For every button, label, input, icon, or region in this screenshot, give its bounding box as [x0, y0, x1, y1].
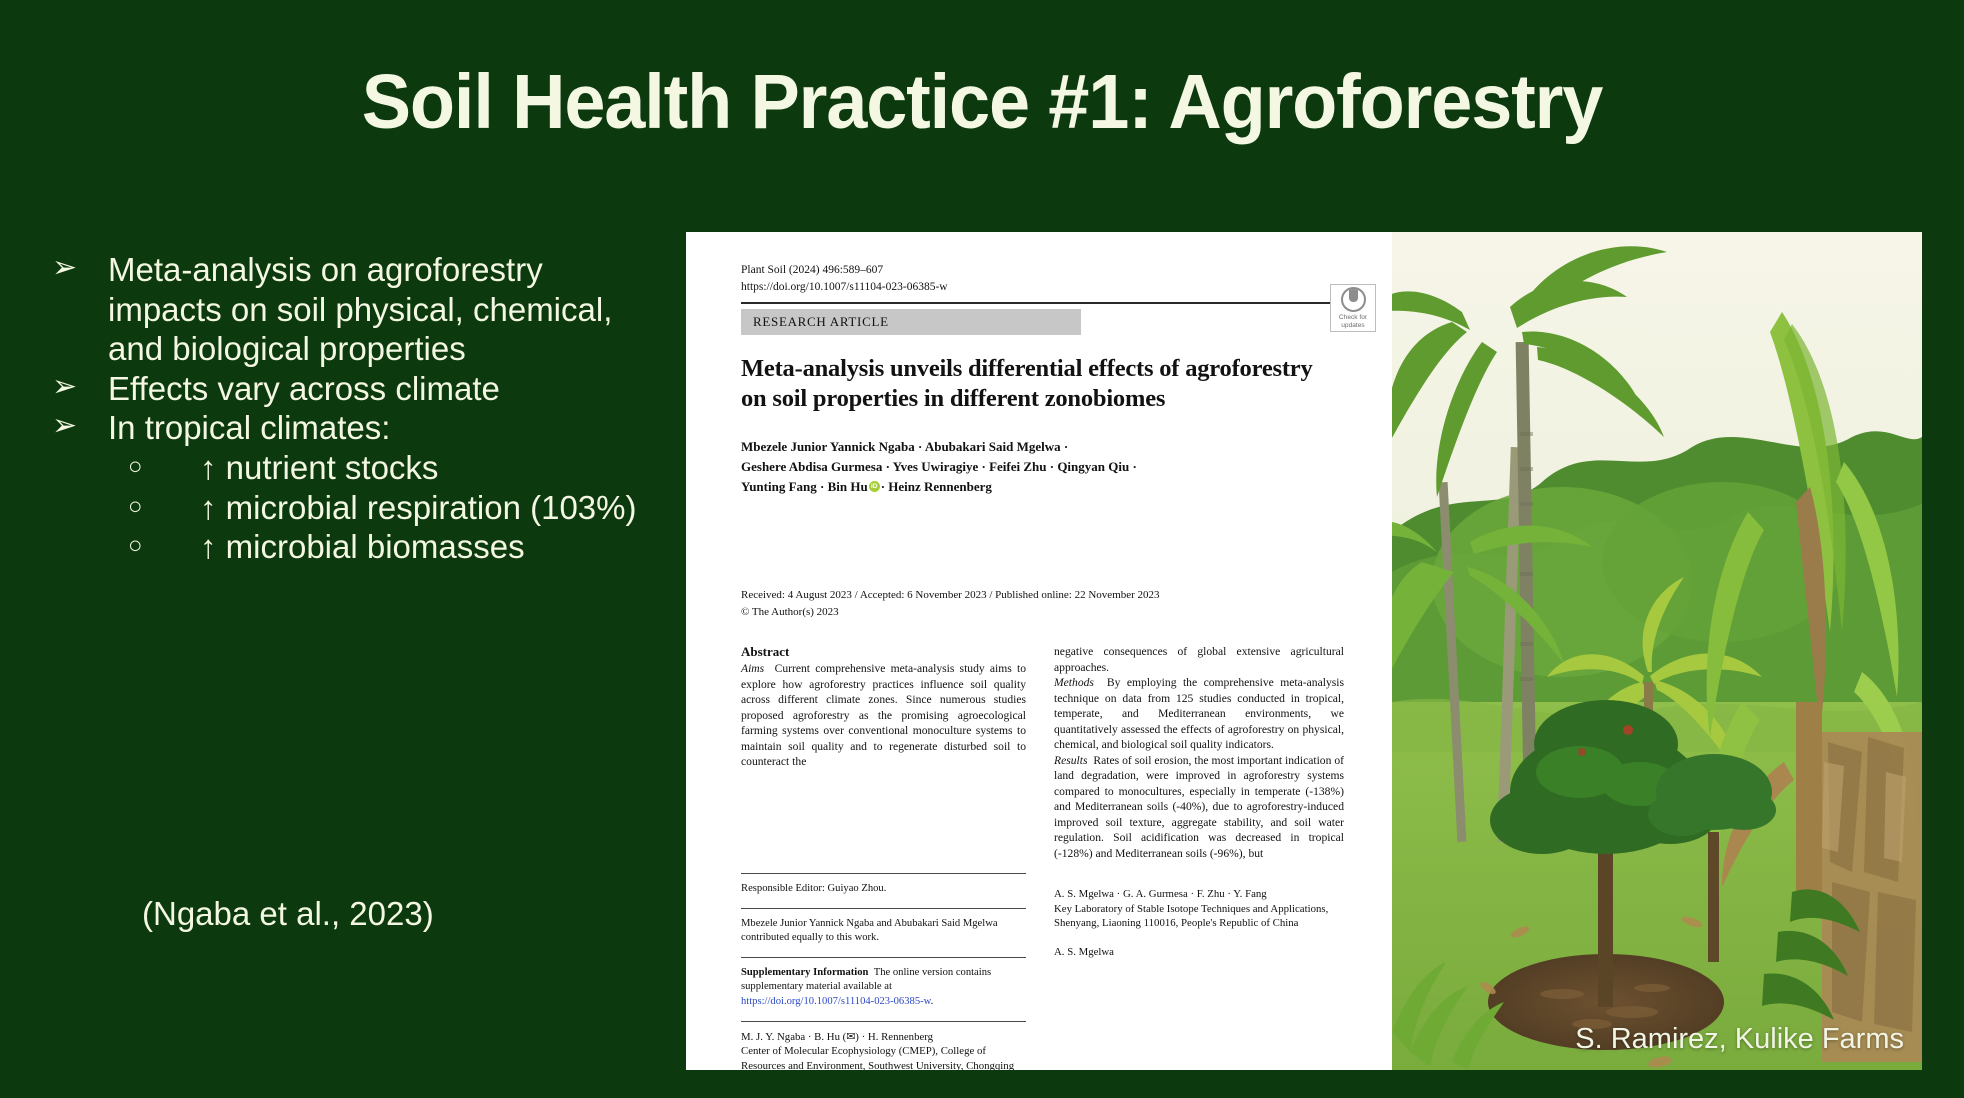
abstract-column-right: negative consequences of global extensiv…	[1054, 644, 1344, 861]
list-item-label: Meta-analysis on agroforestry impacts on…	[108, 250, 652, 369]
affiliation-right-address: Key Laboratory of Stable Isotope Techniq…	[1054, 902, 1344, 931]
orcid-icon[interactable]	[869, 481, 880, 492]
copyright-line: © The Author(s) 2023	[741, 604, 1361, 621]
bullet-list: ➢ Meta-analysis on agroforestry impacts …	[42, 250, 652, 567]
article-type-label: RESEARCH ARTICLE	[741, 314, 889, 330]
results-label: Results	[1054, 754, 1088, 767]
sub-list-item-label: ↑ nutrient stocks	[200, 448, 652, 488]
paper-authors: Mbezele Junior Yannick Ngaba · Abubakari…	[741, 437, 1361, 497]
agroforestry-photo: S. Ramirez, Kulike Farms	[1392, 232, 1922, 1070]
arrow-bullet-icon: ➢	[42, 408, 108, 444]
sub-list-item: ○ ↑ microbial respiration (103%)	[128, 488, 652, 528]
circle-bullet-icon: ○	[128, 488, 200, 525]
equal-contribution-note: Mbezele Junior Yannick Ngaba and Abubaka…	[741, 917, 1026, 946]
aims-label: Aims	[741, 662, 764, 675]
sub-list-item: ○ ↑ nutrient stocks	[128, 448, 652, 488]
aims-text: Current comprehensive meta-analysis stud…	[741, 662, 1026, 768]
photo-credit-caption: S. Ramirez, Kulike Farms	[1575, 1023, 1904, 1056]
affiliation-left-address: Center of Molecular Ecophysiology (CMEP)…	[741, 1044, 1026, 1070]
methods-label: Methods	[1054, 676, 1094, 689]
abstract-heading: Abstract	[741, 644, 1026, 660]
responsible-editor: Responsible Editor: Guiyao Zhou.	[741, 882, 1026, 897]
sub-list: ○ ↑ nutrient stocks ○ ↑ microbial respir…	[128, 448, 652, 567]
footnote-divider	[741, 873, 1026, 874]
affiliation-right-next: A. S. Mgelwa	[1054, 945, 1344, 960]
citation: (Ngaba et al., 2023)	[142, 895, 434, 933]
article-type-ribbon: RESEARCH ARTICLE	[741, 309, 1081, 335]
circle-bullet-icon: ○	[128, 448, 200, 485]
supplementary-link[interactable]: https://doi.org/10.1007/s11104-023-06385…	[741, 996, 931, 1007]
paper-footnotes: Responsible Editor: Guiyao Zhou. Mbezele…	[741, 862, 1026, 1070]
circle-bullet-icon: ○	[128, 527, 200, 564]
arrow-bullet-icon: ➢	[42, 250, 108, 286]
abstract-continued: negative consequences of global extensiv…	[1054, 644, 1344, 675]
authors-line-1: Mbezele Junior Yannick Ngaba · Abubakari…	[741, 437, 1361, 457]
affiliation-right-authors: A. S. Mgelwa · G. A. Gurmesa · F. Zhu · …	[1054, 887, 1344, 902]
paper-screenshot: Plant Soil (2024) 496:589–607 https://do…	[686, 232, 1394, 1070]
supplementary-end: .	[931, 996, 934, 1007]
paper-affiliations-right: A. S. Mgelwa · G. A. Gurmesa · F. Zhu · …	[1054, 887, 1344, 960]
methods-text: By employing the comprehensive meta-anal…	[1054, 676, 1344, 751]
journal-citation-line: Plant Soil (2024) 496:589–607	[741, 262, 948, 279]
abstract-methods: Methods By employing the comprehensive m…	[1054, 675, 1344, 753]
list-item: ➢ In tropical climates:	[42, 408, 652, 448]
sub-list-item-label: ↑ microbial respiration (103%)	[200, 488, 652, 528]
authors-line-3: Yunting Fang · Bin Hu· Heinz Rennenberg	[741, 477, 1361, 497]
authors-line-3-a: Yunting Fang · Bin Hu	[741, 479, 868, 494]
supplementary-information: Supplementary Information The online ver…	[741, 966, 1026, 1010]
authors-line-3-b: · Heinz Rennenberg	[881, 479, 992, 494]
abstract-aims: Aims Current comprehensive meta-analysis…	[741, 661, 1026, 770]
supplementary-label: Supplementary Information	[741, 967, 868, 978]
list-item-label: In tropical climates:	[108, 408, 652, 448]
sub-list-item: ○ ↑ microbial biomasses	[128, 527, 652, 567]
abstract-column-left: Abstract Aims Current comprehensive meta…	[741, 644, 1026, 770]
slide-root: Soil Health Practice #1: Agroforestry ➢ …	[0, 0, 1964, 1098]
received-line: Received: 4 August 2023 / Accepted: 6 No…	[741, 587, 1361, 604]
check-for-updates-label: Check for updates	[1331, 314, 1375, 329]
results-text: Rates of soil erosion, the most importan…	[1054, 754, 1344, 860]
journal-doi-line: https://doi.org/10.1007/s11104-023-06385…	[741, 279, 948, 296]
check-for-updates-badge[interactable]: Check for updates	[1330, 284, 1376, 332]
abstract-results: Results Rates of soil erosion, the most …	[1054, 753, 1344, 862]
authors-line-2: Geshere Abdisa Gurmesa · Yves Uwiragiye …	[741, 457, 1361, 477]
affiliation-divider	[741, 1021, 1026, 1022]
header-divider	[741, 302, 1341, 304]
page-title: Soil Health Practice #1: Agroforestry	[39, 62, 1924, 143]
arrow-bullet-icon: ➢	[42, 369, 108, 405]
footnote-divider	[741, 957, 1026, 958]
photo-illustration	[1392, 232, 1922, 1070]
sub-list-item-label: ↑ microbial biomasses	[200, 527, 652, 567]
journal-header: Plant Soil (2024) 496:589–607 https://do…	[741, 262, 948, 295]
list-item: ➢ Meta-analysis on agroforestry impacts …	[42, 250, 652, 369]
list-item-label: Effects vary across climate	[108, 369, 652, 409]
affiliation-left-authors: M. J. Y. Ngaba · B. Hu (✉) · H. Rennenbe…	[741, 1030, 1026, 1045]
list-item: ➢ Effects vary across climate	[42, 369, 652, 409]
crossmark-icon	[1341, 287, 1366, 312]
footnote-divider	[741, 908, 1026, 909]
paper-title: Meta-analysis unveils differential effec…	[741, 354, 1341, 415]
paper-dates: Received: 4 August 2023 / Accepted: 6 No…	[741, 587, 1361, 620]
